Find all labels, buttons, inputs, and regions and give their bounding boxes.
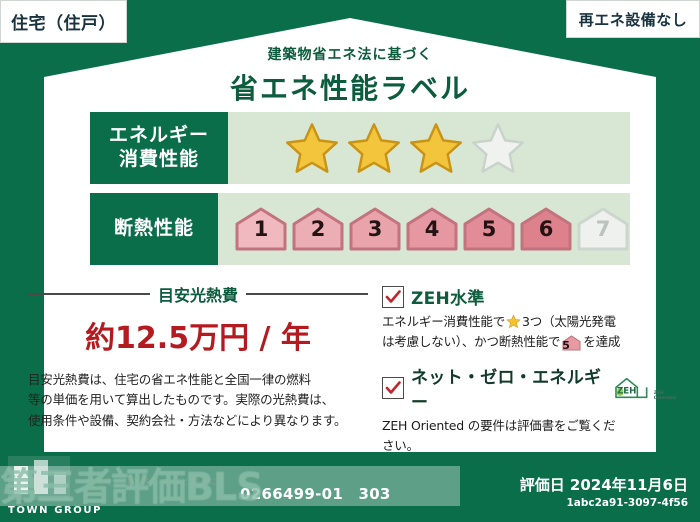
inline-insulation-badge: 5 [562, 335, 581, 351]
zeh-oriented-logo: ZEH ZEH Oriented [612, 375, 676, 401]
insulation-badge-2: 2 [291, 206, 345, 252]
net-zero-desc-line-2: さい。 [382, 436, 676, 456]
insulation-badge-6: 6 [519, 206, 573, 252]
zeh-block-container: ZEH水準 エネルギー消費性能で3つ（太陽光発電 は考慮しない）、かつ断熱性能で… [382, 282, 676, 467]
label-title-block: 建築物省エネ法に基づく 省エネ性能ラベル [0, 44, 700, 107]
star-icon-filled [408, 121, 464, 175]
zeh-standard-checkbox[interactable] [382, 286, 404, 308]
check-icon [385, 289, 401, 305]
insulation-badge-number: 3 [368, 217, 383, 241]
cost-note-line-3: 使用条件や設備、契約会社・方法などにより異なります。 [28, 411, 368, 431]
zeh-desc-part-d: を達成 [583, 334, 620, 349]
insulation-badge-number: 7 [596, 217, 611, 241]
insulation-badge-4: 4 [405, 206, 459, 252]
insulation-badge-7: 7 [576, 206, 630, 252]
utility-cost-block: 目安光熱費 約12.5万円 / 年 目安光熱費は、住宅の省エネ性能と全国一律の燃… [28, 282, 368, 467]
energy-performance-row: エネルギー 消費性能 [90, 112, 630, 184]
town-group-tagline: ひとを、まちを、もっと豊かに。 [86, 475, 228, 488]
zeh-desc-part-a: エネルギー消費性能で [382, 314, 505, 329]
utility-cost-note: 目安光熱費は、住宅の省エネ性能と全国一律の燃料 等の単価を用いて算出したものです… [28, 370, 368, 431]
energy-label-line2: 消費性能 [119, 148, 199, 172]
cost-note-line-1: 目安光熱費は、住宅の省エネ性能と全国一律の燃料 [28, 370, 368, 390]
utility-cost-heading: 目安光熱費 [158, 282, 238, 306]
document-id: 0266499-01 303 [240, 483, 391, 504]
rating-rows: エネルギー 消費性能 断熱性能 1234567 [90, 112, 630, 274]
lower-panel: 目安光熱費 約12.5万円 / 年 目安光熱費は、住宅の省エネ性能と全国一律の燃… [28, 282, 676, 467]
zeh-standard-block: ZEH水準 エネルギー消費性能で3つ（太陽光発電 は考慮しない）、かつ断熱性能で… [382, 284, 676, 352]
utility-cost-value: 約12.5万円 / 年 [28, 313, 368, 357]
insulation-badge-5: 5 [462, 206, 516, 252]
insulation-badge-number: 2 [311, 217, 326, 241]
insulation-badge-1: 1 [234, 206, 288, 252]
star-icon-filled [346, 121, 402, 175]
town-group-mark-icon [8, 456, 70, 500]
renewable-equipment-tag: 再エネ設備なし [566, 0, 700, 38]
zeh-house-logo-icon: ZEH [612, 375, 652, 401]
energy-label-root: 建築物省エネ法に基づく 省エネ性能ラベル 住宅（住戸） 再エネ設備なし エネルギ… [0, 0, 700, 522]
zeh-desc-part-c: は考慮しない）、かつ断熱性能で [382, 334, 560, 349]
net-zero-energy-block: ネット・ゼロ・エネルギー ZEH ZEH Oriented [382, 363, 676, 456]
zeh-standard-description: エネルギー消費性能で3つ（太陽光発電 は考慮しない）、かつ断熱性能で5を達成 [382, 312, 676, 352]
net-zero-desc-line-1: ZEH Oriented の要件は評価書をご覧くだ [382, 416, 676, 436]
insulation-badge-number: 4 [425, 217, 440, 241]
insulation-performance-row: 断熱性能 1234567 [90, 193, 630, 265]
building-type-tag: 住宅（住戸） [0, 0, 127, 43]
net-zero-energy-header: ネット・ゼロ・エネルギー ZEH ZEH Oriented [382, 363, 676, 413]
insulation-badge-3: 3 [348, 206, 402, 252]
energy-performance-label: エネルギー 消費性能 [90, 112, 228, 184]
evaluation-uuid: 1abc2a91-3097-4f56 [520, 497, 688, 509]
insulation-performance-body: 1234567 [218, 193, 630, 265]
net-zero-energy-description: ZEH Oriented の要件は評価書をご覧くだ さい。 [382, 416, 676, 456]
star-icon-empty [470, 121, 526, 175]
insulation-badge-number: 6 [539, 217, 554, 241]
star-rating [284, 121, 526, 175]
zeh-standard-header: ZEH水準 [382, 284, 676, 309]
insulation-badge-number: 5 [482, 217, 497, 241]
star-icon-filled [284, 121, 340, 175]
net-zero-energy-title: ネット・ゼロ・エネルギー [411, 363, 602, 413]
evaluation-info: 評価日 2024年11月6日 1abc2a91-3097-4f56 [520, 474, 688, 509]
inline-badge-number: 5 [562, 339, 569, 352]
energy-label-line1: エネルギー [109, 124, 209, 148]
footer-bar: 0266499-01 303 評価日 2024年11月6日 1abc2a91-3… [0, 464, 700, 522]
town-group-name: TOWN GROUP [8, 505, 102, 516]
rule-left [28, 293, 150, 295]
rule-right [246, 293, 368, 295]
insulation-label-line1: 断熱性能 [114, 217, 194, 241]
star-icon [506, 314, 521, 329]
utility-cost-heading-row: 目安光熱費 [28, 282, 368, 306]
cost-note-line-2: 等の単価を用いて算出したものです。実際の光熱費は、 [28, 390, 368, 410]
check-icon [385, 380, 401, 396]
insulation-performance-label: 断熱性能 [90, 193, 218, 265]
zeh-desc-part-b: 3つ（太陽光発電 [522, 314, 616, 329]
page-title: 省エネ性能ラベル [0, 67, 700, 107]
svg-text:ZEH: ZEH [617, 386, 636, 396]
insulation-badge-number: 1 [254, 217, 269, 241]
insulation-badge-scale: 1234567 [234, 206, 630, 252]
zeh-logo-sub-2: Oriented [654, 397, 676, 402]
net-zero-energy-checkbox[interactable] [382, 377, 404, 399]
evaluation-date: 評価日 2024年11月6日 [520, 474, 688, 495]
energy-performance-body [228, 112, 630, 184]
zeh-standard-title: ZEH水準 [411, 284, 485, 309]
title-subtitle: 建築物省エネ法に基づく [0, 44, 700, 64]
